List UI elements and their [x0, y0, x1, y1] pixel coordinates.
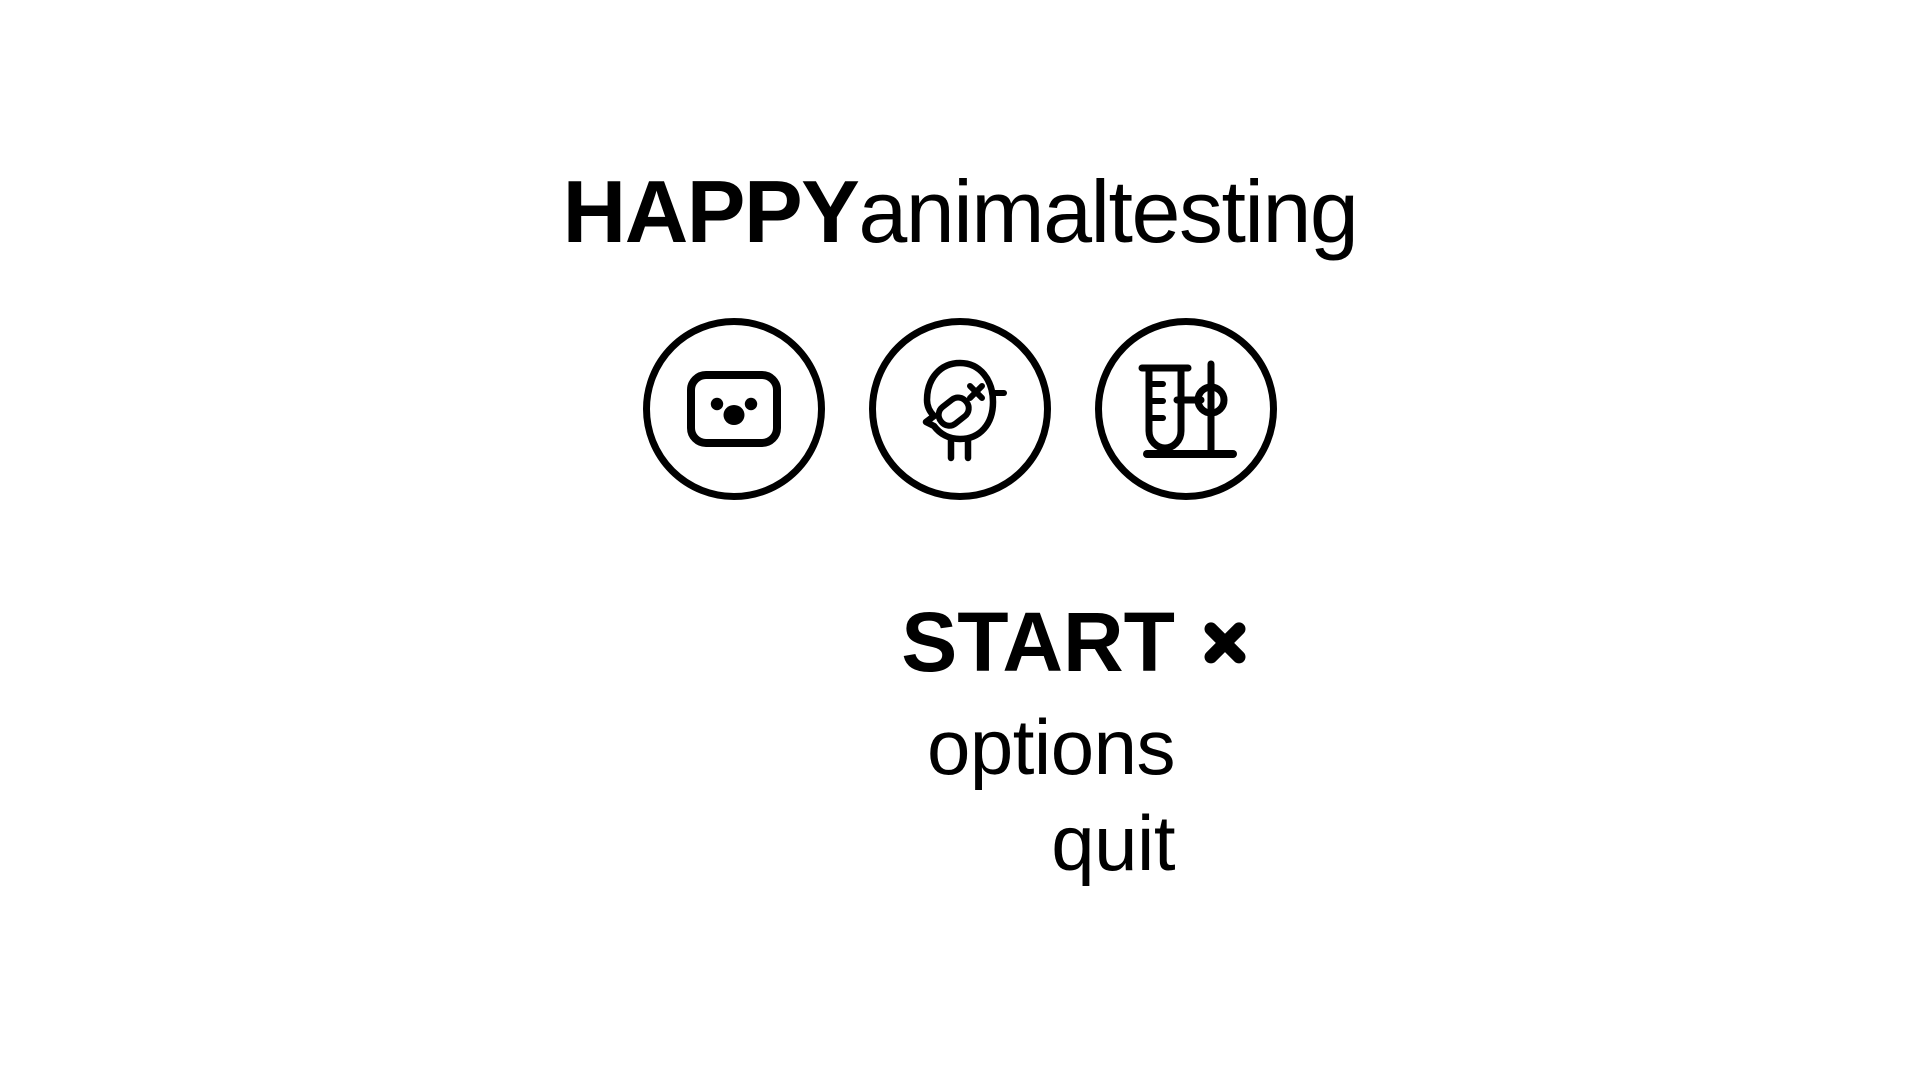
dead-bird-badge[interactable]	[869, 318, 1051, 500]
test-tube-stand-badge[interactable]	[1095, 318, 1277, 500]
animal-face-badge[interactable]	[643, 318, 825, 500]
game-title-bold: HAPPY	[563, 162, 859, 261]
menu-item-options[interactable]: options	[0, 708, 1920, 786]
menu-item-options-label: options	[927, 703, 1175, 791]
test-tube-stand-icon	[1133, 356, 1239, 462]
menu-item-start[interactable]: START	[0, 600, 1920, 684]
selection-cursor-x-icon	[1202, 620, 1248, 666]
dead-bird-icon	[908, 354, 1012, 464]
game-title: HAPPYanimaltesting	[0, 168, 1920, 256]
animal-face-icon	[682, 357, 786, 461]
menu-item-quit-label: quit	[1051, 799, 1175, 887]
menu-item-quit[interactable]: quit	[0, 804, 1920, 882]
game-main-menu-screen: HAPPYanimaltesting	[0, 0, 1920, 1080]
menu-item-start-label: START	[901, 595, 1175, 689]
main-menu: START options quit	[0, 600, 1920, 882]
game-title-light: animaltesting	[858, 162, 1357, 261]
icon-row	[0, 318, 1920, 500]
